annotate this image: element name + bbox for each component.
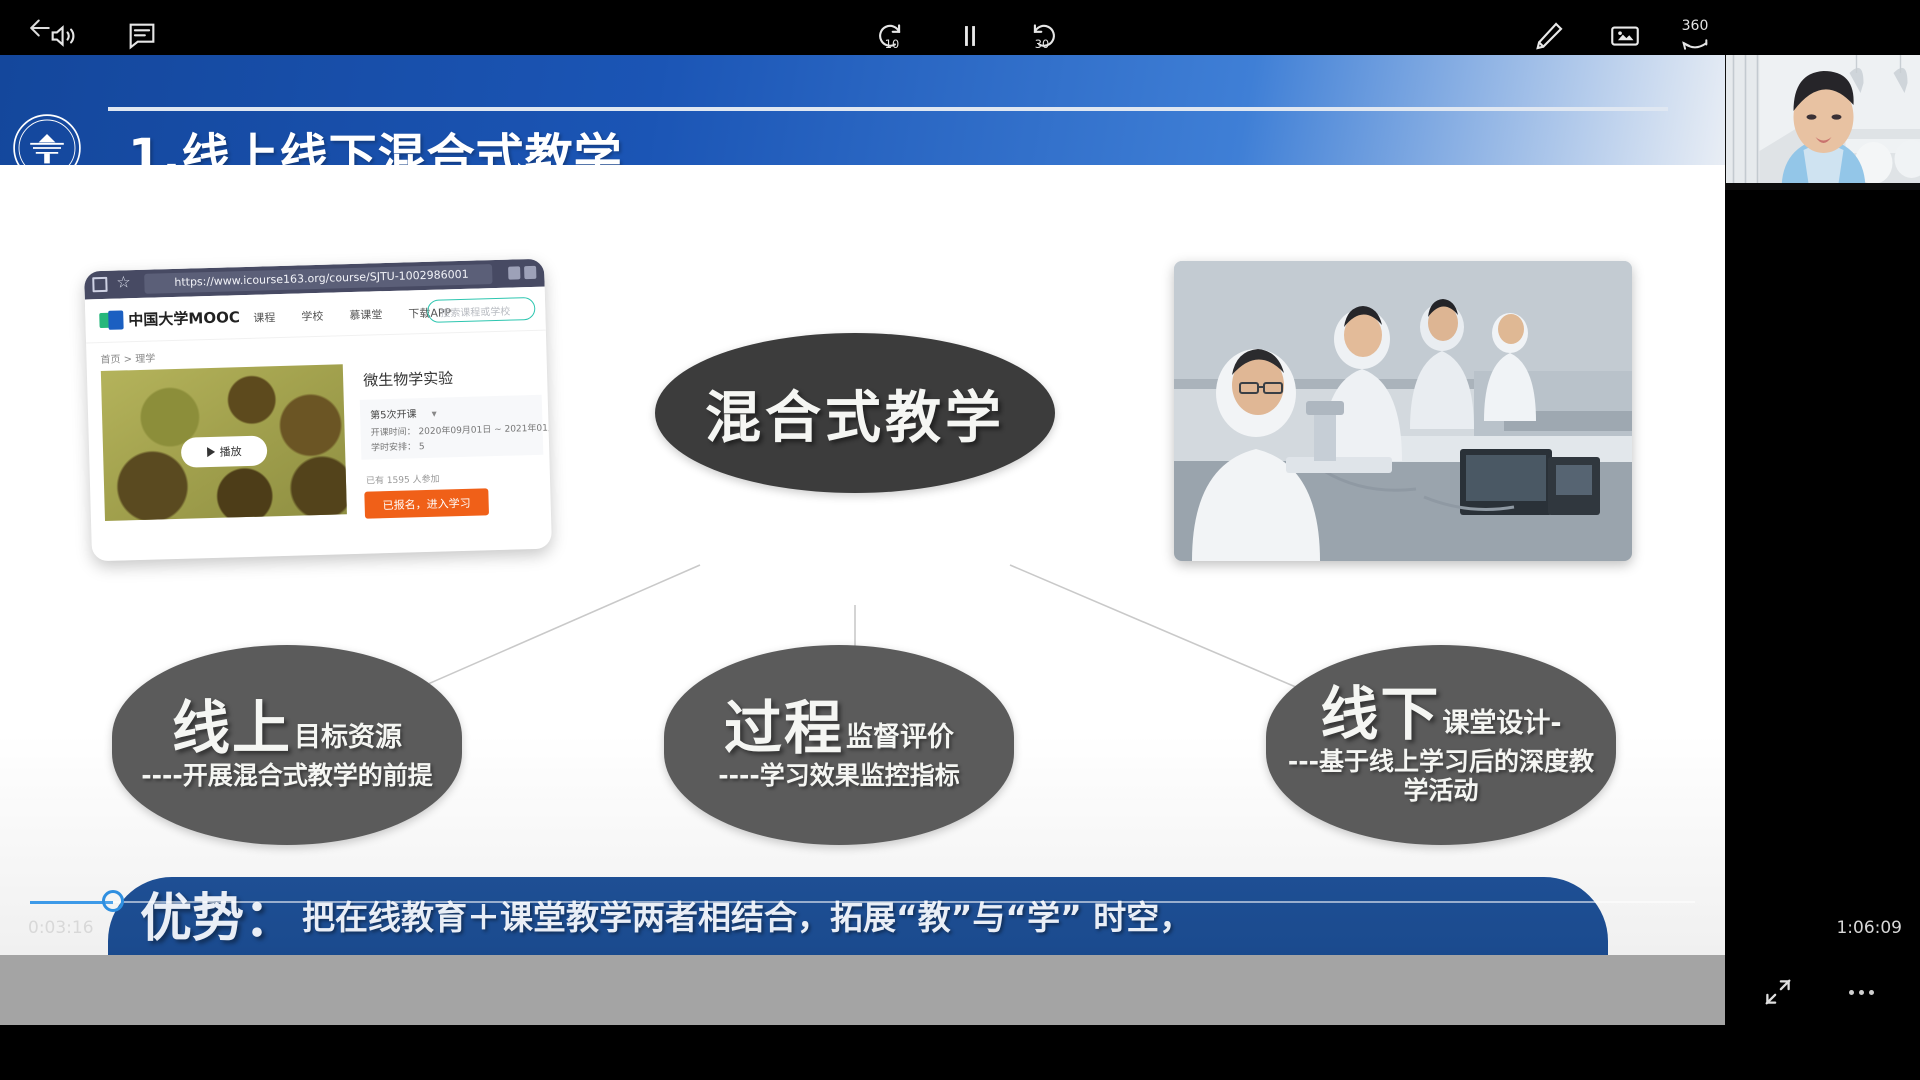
chevron-down-icon: ▾: [432, 409, 437, 420]
svg-text:30: 30: [1035, 37, 1049, 51]
leaf-small-label: 监督评价: [846, 724, 954, 757]
total-time-label: 1:06:09: [1836, 918, 1902, 938]
volume-button[interactable]: [42, 14, 86, 58]
play-button[interactable]: 播放: [181, 435, 268, 467]
seek-bar[interactable]: [0, 898, 1725, 906]
shrink-icon: [1761, 975, 1795, 1009]
pause-button[interactable]: [948, 14, 992, 58]
leaf-small-label: 目标资源: [294, 724, 402, 757]
laboratory-photo: [1174, 261, 1632, 561]
mooc-breadcrumb: 首页 > 理学: [100, 350, 155, 367]
slide-body: ☆ https://www.icourse163.org/course/SJTU…: [0, 165, 1725, 955]
leaf-big-label: 过程: [724, 699, 844, 757]
leaf-node-offline: 线下 课堂设计- ---基于线上学习后的深度教学活动: [1266, 645, 1616, 845]
more-icon: [1849, 990, 1874, 995]
exit-fullscreen-button[interactable]: [1755, 969, 1801, 1015]
leaf-sub-label: ----学习效果监控指标: [704, 761, 974, 791]
leaf-big-label: 线上: [172, 699, 292, 757]
rewind-10-button[interactable]: 10: [870, 14, 914, 58]
course-enrolled-count: 已有 1595 人参加: [366, 472, 440, 487]
presenter-webcam-frame: [1726, 55, 1920, 190]
more-options-button[interactable]: [1838, 969, 1884, 1015]
title-rule-top: [108, 107, 1668, 111]
forward-30-icon: 30: [1025, 19, 1059, 53]
nav-item-schools[interactable]: 学校: [301, 308, 323, 325]
leaf-head: 线下 课堂设计-: [1320, 685, 1561, 743]
snapshot-icon: [1608, 19, 1642, 53]
home-icon: [92, 277, 107, 292]
volume-icon: [47, 19, 81, 53]
course-info-box: 第5次开课 ▾ 开课时间： 2020年09月01日 ~ 2021年01月15日 …: [360, 395, 544, 460]
chrome-right-icons: [508, 266, 536, 280]
subtitle-button[interactable]: [120, 14, 164, 58]
leaf-node-online: 线上 目标资源 ----开展混合式教学的前提: [112, 645, 462, 845]
mooc-browser-mockup: ☆ https://www.icourse163.org/course/SJTU…: [84, 259, 552, 562]
play-label: 播放: [219, 443, 241, 460]
slide-header-band: 1896 SHANGHAI JIAO TONG 1.线上线下混合式教学: [0, 55, 1725, 165]
nav-item-courses[interactable]: 课程: [253, 309, 275, 326]
pause-icon: [953, 19, 987, 53]
seek-progress-fill: [30, 901, 113, 904]
course-meta-hours: 学时安排： 5: [371, 439, 425, 453]
degree-360-label: 360: [1673, 18, 1717, 34]
rewind-10-icon: 10: [875, 19, 909, 53]
pencil-icon: [1532, 19, 1566, 53]
presenter-webcam[interactable]: [1725, 55, 1920, 190]
video-player-page: 1896 SHANGHAI JIAO TONG 1.线上线下混合式教学: [0, 0, 1920, 1080]
center-node-label: 混合式教学: [705, 373, 1005, 454]
star-icon: ☆: [116, 275, 131, 291]
laboratory-photo-illustration: [1174, 261, 1632, 561]
slide-stage: 1896 SHANGHAI JIAO TONG 1.线上线下混合式教学: [0, 55, 1725, 955]
advantage-banner: 优势： 把在线教育＋课堂教学两者相结合，拓展“教”与“学” 时空， 实现深度学习…: [108, 877, 1608, 955]
play-icon: [206, 447, 214, 457]
forward-30-button[interactable]: 30: [1020, 14, 1064, 58]
leaf-big-label: 线下: [1320, 685, 1440, 743]
mooc-search-placeholder: 搜索课程或学校: [440, 303, 510, 320]
enter-course-button[interactable]: 已报名，进入学习: [364, 488, 489, 518]
leaf-small-label: 课堂设计-: [1442, 710, 1561, 743]
seek-track[interactable]: [30, 901, 1695, 903]
mooc-site-name: 中国大学MOOC: [128, 306, 240, 330]
leaf-head: 线上 目标资源: [172, 699, 402, 757]
course-meta-dates: 开课时间： 2020年09月01日 ~ 2021年01月15日: [370, 420, 552, 439]
current-time-label: 0:03:16: [28, 918, 94, 938]
leaf-sub-label: ---基于线上学习后的深度教学活动: [1266, 747, 1616, 806]
menu-icon: [524, 266, 536, 279]
subtitle-icon: [125, 19, 159, 53]
degree-360-button[interactable]: 360: [1673, 14, 1717, 58]
right-black-column: [1725, 190, 1920, 955]
mooc-logo: 中国大学MOOC: [99, 306, 240, 331]
annotate-button[interactable]: [1527, 14, 1571, 58]
course-video-thumbnail[interactable]: 播放: [101, 364, 347, 521]
mooc-nav-links: 课程 学校 慕课堂 下载APP: [253, 304, 451, 326]
leaf-sub-label: ----开展混合式教学的前提: [127, 761, 447, 791]
course-session-label: 第5次开课: [370, 409, 417, 421]
center-node: 混合式教学: [655, 333, 1055, 493]
extension-icon: [508, 266, 520, 279]
nav-item-mooc-class[interactable]: 慕课堂: [349, 306, 382, 323]
player-control-bar: [0, 955, 1725, 1025]
mooc-search-input[interactable]: 搜索课程或学校: [427, 297, 536, 323]
leaf-node-process: 过程 监督评价 ----学习效果监控指标: [664, 645, 1014, 845]
course-title: 微生物学实验: [363, 367, 454, 391]
snapshot-button[interactable]: [1603, 14, 1647, 58]
leaf-head: 过程 监督评价: [724, 699, 954, 757]
course-session-select[interactable]: 第5次开课 ▾: [370, 405, 437, 422]
svg-text:10: 10: [885, 37, 899, 51]
mooc-book-icon: [99, 310, 124, 330]
